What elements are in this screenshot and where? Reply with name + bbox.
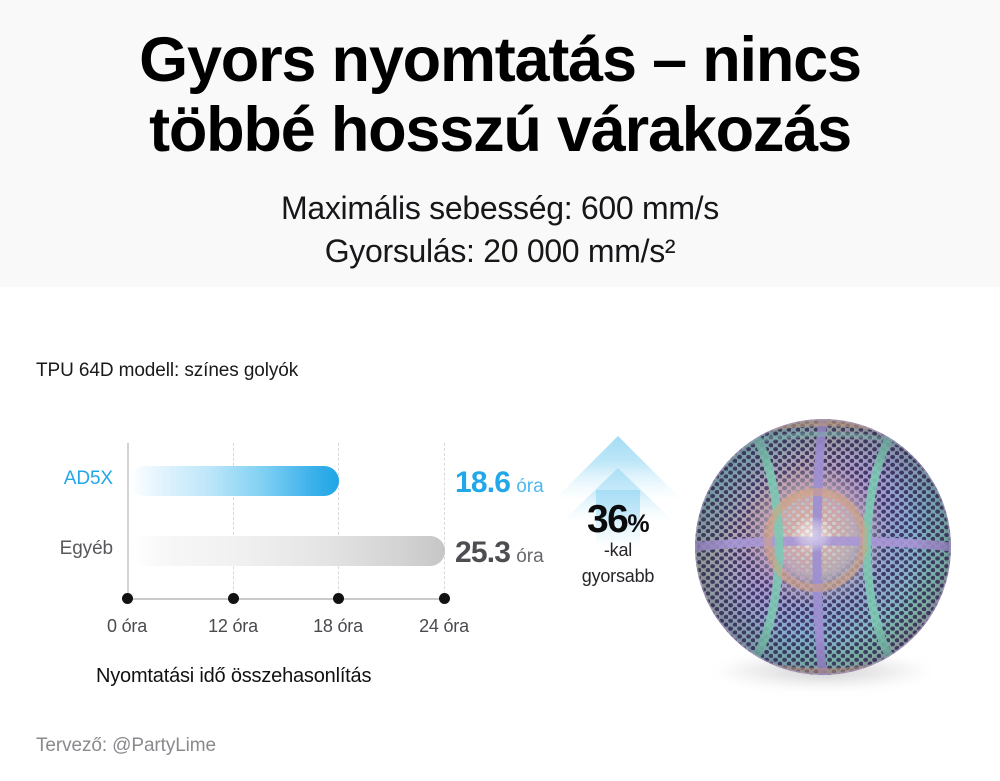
- speed-improvement-badge: 36% -kal gyorsabb: [552, 430, 684, 605]
- bar-label-other: Egyéb: [60, 538, 113, 560]
- infographic-page: Gyors nyomtatás – nincs többé hosszú vár…: [0, 0, 1000, 781]
- bar-label-ad5x-wrap: AD5X: [0, 468, 113, 494]
- bar-value-ad5x-unit: óra: [516, 476, 543, 498]
- tick-dot-12: [228, 593, 239, 604]
- page-title: Gyors nyomtatás – nincs többé hosszú vár…: [40, 26, 960, 166]
- badge-suffix-line-1: -kal: [552, 540, 684, 561]
- model-caption: TPU 64D modell: színes golyók: [36, 360, 298, 382]
- perforated-sphere-model-icon: [692, 416, 954, 678]
- chart-y-axis-line: [127, 443, 129, 599]
- bar-value-ad5x: 18.6 óra: [455, 466, 544, 500]
- designer-credit: Tervező: @PartyLime: [36, 735, 216, 757]
- tick-dot-0: [122, 593, 133, 604]
- bar-value-other-number: 25.3: [455, 536, 510, 570]
- tick-label-24: 24 óra: [419, 616, 469, 637]
- bar-value-other: 25.3 óra: [455, 536, 544, 570]
- bar-value-other-unit: óra: [516, 546, 543, 568]
- headline-line-2: többé hosszú várakozás: [40, 96, 960, 166]
- bar-ad5x: [130, 466, 339, 496]
- gridline-24: [444, 443, 445, 599]
- chart-x-axis-line: [127, 598, 444, 600]
- bar-other: [130, 536, 445, 566]
- bar-value-ad5x-number: 18.6: [455, 466, 510, 500]
- print-time-bar-chart: 0 óra 12 óra 18 óra 24 óra AD5X 18.6 óra…: [0, 430, 560, 610]
- spec-acceleration: Gyorsulás: 20 000 mm/s²: [281, 230, 719, 273]
- bar-label-ad5x: AD5X: [64, 468, 113, 490]
- tick-label-0: 0 óra: [107, 616, 147, 637]
- spec-subtitle: Maximális sebesség: 600 mm/s Gyorsulás: …: [281, 187, 719, 273]
- badge-suffix-line-2: gyorsabb: [552, 566, 684, 587]
- header-banner: Gyors nyomtatás – nincs többé hosszú vár…: [0, 0, 1000, 287]
- percent-value: 36%: [552, 498, 684, 542]
- headline-line-1: Gyors nyomtatás – nincs: [40, 26, 960, 96]
- percent-number: 36: [587, 498, 627, 541]
- spec-max-speed: Maximális sebesség: 600 mm/s: [281, 187, 719, 230]
- bar-label-other-wrap: Egyéb: [0, 538, 113, 564]
- tick-label-18: 18 óra: [313, 616, 363, 637]
- chart-title-footer: Nyomtatási idő összehasonlítás: [96, 665, 371, 688]
- gridline-18: [338, 443, 339, 599]
- tick-dot-18: [333, 593, 344, 604]
- tick-label-12: 12 óra: [208, 616, 258, 637]
- product-model-image: [680, 408, 970, 708]
- percent-symbol: %: [627, 510, 649, 538]
- tick-dot-24: [439, 593, 450, 604]
